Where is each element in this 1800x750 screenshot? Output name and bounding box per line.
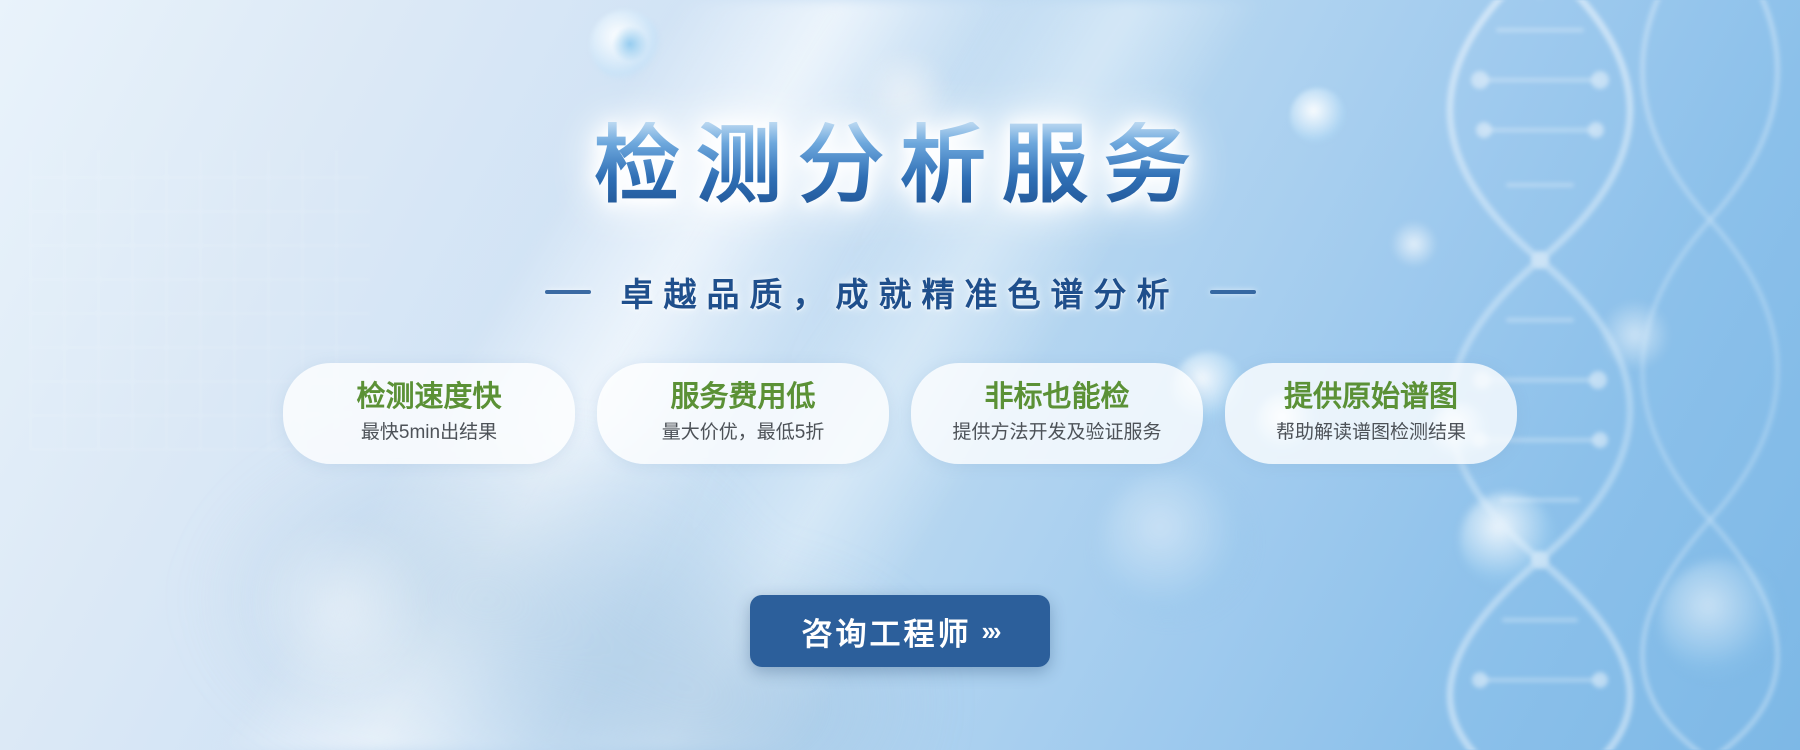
- feature-card-nonstandard[interactable]: 非标也能检 提供方法开发及验证服务: [911, 363, 1203, 464]
- feature-card-title: 提供原始谱图: [1255, 379, 1487, 415]
- feature-card-title: 非标也能检: [941, 379, 1173, 415]
- feature-card-subtitle: 最快5min出结果: [313, 421, 545, 446]
- banner-title-wrap: 检测分析服务: [0, 122, 1800, 218]
- cta-wrap: 咨询工程师 ›››: [0, 595, 1800, 667]
- banner-subtitle: 卓越品质，成就精准色谱分析: [621, 268, 1180, 316]
- dash-left-icon: [545, 290, 591, 294]
- chevron-right-triple-icon: ›››: [982, 616, 999, 647]
- feature-card-price[interactable]: 服务费用低 量大价优，最低5折: [597, 363, 889, 464]
- feature-card-subtitle: 提供方法开发及验证服务: [941, 421, 1173, 446]
- feature-card-list: 检测速度快 最快5min出结果 服务费用低 量大价优，最低5折 非标也能检 提供…: [0, 363, 1800, 464]
- feature-card-spectra[interactable]: 提供原始谱图 帮助解读谱图检测结果: [1225, 363, 1517, 464]
- promo-banner: 检测分析服务 卓越品质，成就精准色谱分析 检测速度快 最快5min出结果 服务费…: [0, 0, 1800, 750]
- feature-card-subtitle: 帮助解读谱图检测结果: [1255, 421, 1487, 446]
- cta-label: 咨询工程师: [802, 609, 972, 654]
- banner-content: 检测分析服务 卓越品质，成就精准色谱分析 检测速度快 最快5min出结果 服务费…: [0, 0, 1800, 750]
- banner-subtitle-wrap: 卓越品质，成就精准色谱分析: [0, 268, 1800, 316]
- feature-card-speed[interactable]: 检测速度快 最快5min出结果: [283, 363, 575, 464]
- page-title: 检测分析服务: [576, 122, 1224, 218]
- dash-right-icon: [1210, 290, 1256, 294]
- feature-card-title: 服务费用低: [627, 379, 859, 415]
- feature-card-subtitle: 量大价优，最低5折: [627, 421, 859, 446]
- consult-engineer-button[interactable]: 咨询工程师 ›››: [750, 595, 1051, 667]
- feature-card-title: 检测速度快: [313, 379, 545, 415]
